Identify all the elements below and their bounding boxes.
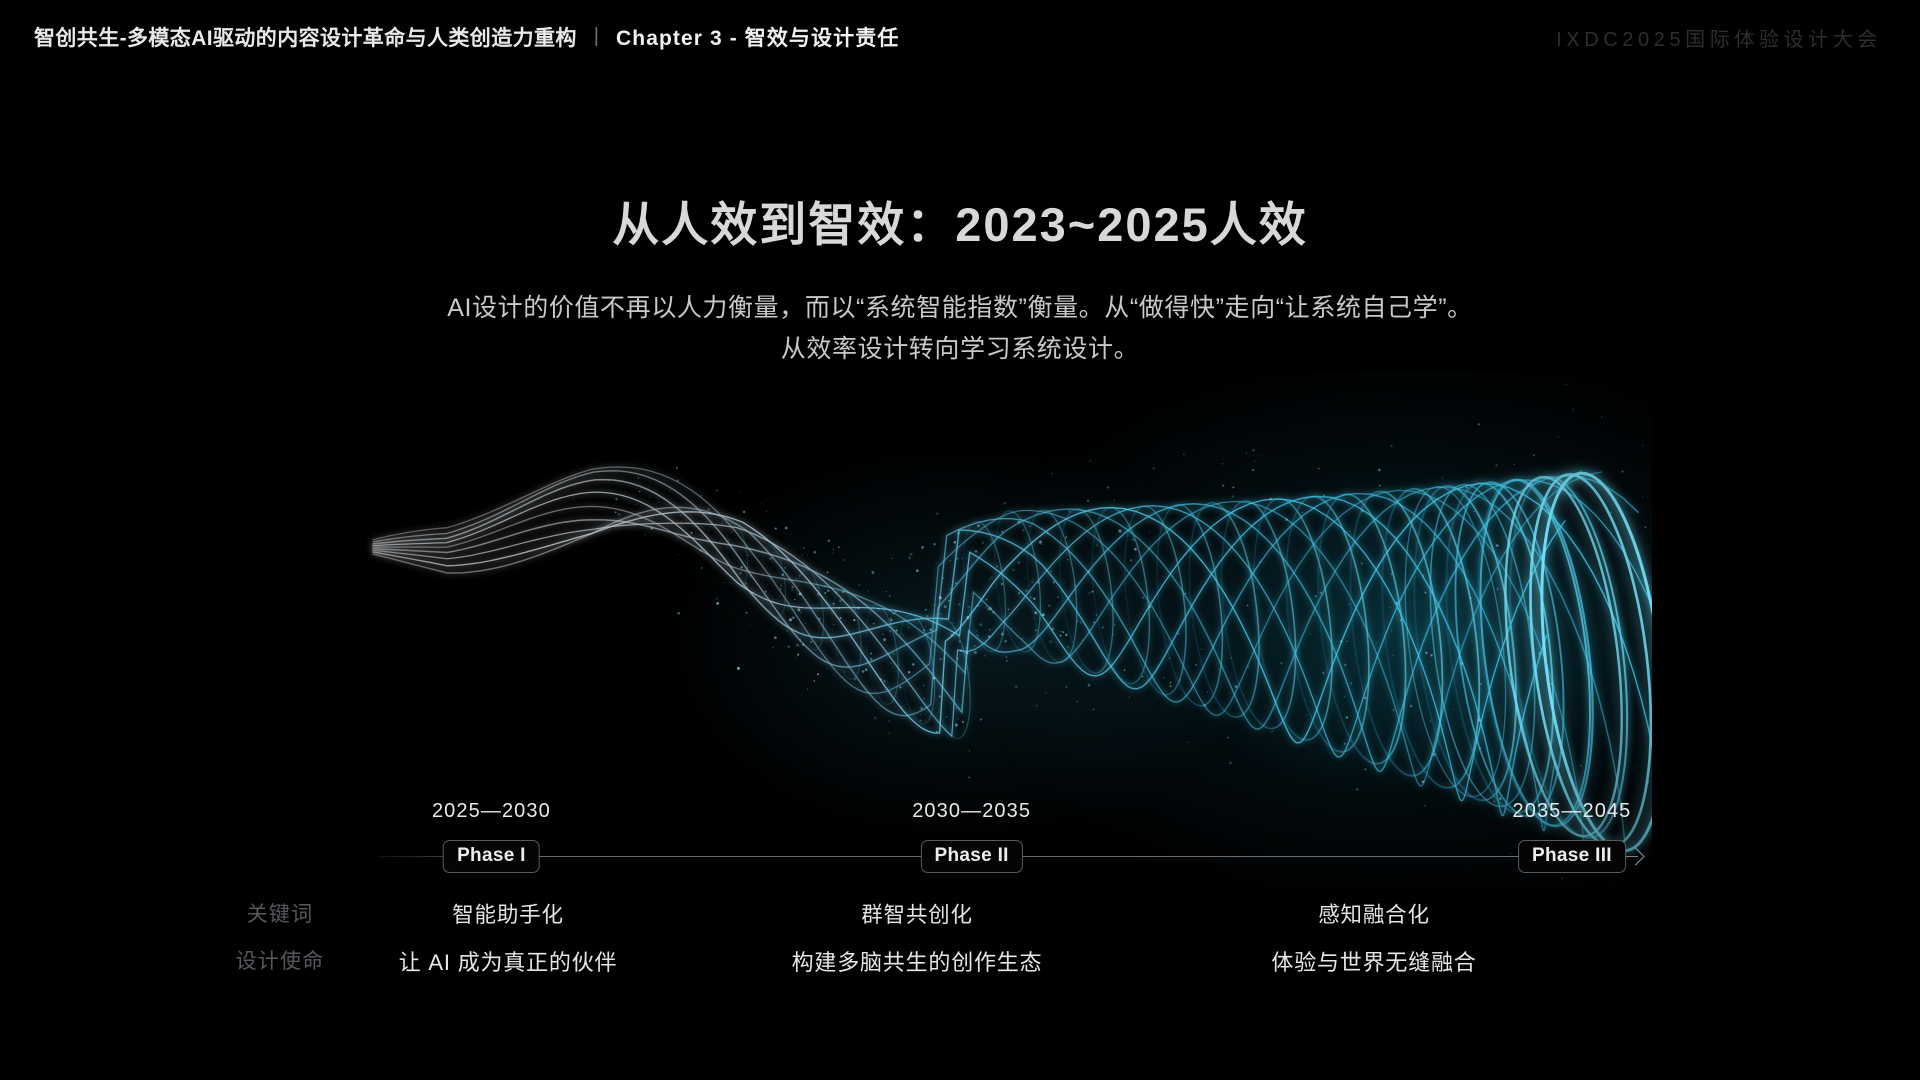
phase-chip-3[interactable]: Phase III [1518, 840, 1626, 873]
page-subtitle: AI设计的价值不再以人力衡量，而以“系统智能指数”衡量。从“做得快”走向“让系统… [0, 288, 1920, 370]
header-left-group: 智创共生-多模态AI驱动的内容设计革命与人类创造力重构 | Chapter 3 … [34, 22, 899, 52]
subtitle-line-1: AI设计的价值不再以人力衡量，而以“系统智能指数”衡量。从“做得快”走向“让系统… [447, 294, 1473, 322]
page-title: 从人效到智效：2023~2025人效 [0, 186, 1920, 255]
chapter-title: Chapter 3 - 智效与设计责任 [616, 22, 899, 52]
matrix-row-mission: 设计使命 让 AI 成为真正的伙伴 构建多脑共生的创作生态 体验与世界无缝融合 [0, 945, 1920, 992]
phase-chip-1[interactable]: Phase I [443, 840, 540, 873]
matrix-cell-mission-1: 让 AI 成为真正的伙伴 [399, 945, 618, 977]
matrix-row-label-mission: 设计使命 [215, 945, 345, 975]
matrix-cell-mission-3: 体验与世界无缝融合 [1271, 945, 1476, 977]
matrix-cell-keyword-2: 群智共创化 [861, 898, 973, 929]
matrix-row-label-keyword: 关键词 [215, 898, 345, 928]
slide-root: 智创共生-多模态AI驱动的内容设计革命与人类创造力重构 | Chapter 3 … [0, 0, 1920, 1080]
matrix-row-keyword: 关键词 智能助手化 群智共创化 感知融合化 [0, 898, 1920, 945]
phase-date-3: 2035—2045 [1513, 800, 1632, 823]
deck-title: 智创共生-多模态AI驱动的内容设计革命与人类创造力重构 [34, 22, 577, 52]
phase-date-2: 2030—2035 [912, 800, 1031, 823]
slide-header: 智创共生-多模态AI驱动的内容设计革命与人类创造力重构 | Chapter 3 … [0, 0, 1920, 78]
matrix-cell-keyword-1: 智能助手化 [452, 898, 564, 929]
phase-date-1: 2025—2030 [432, 800, 551, 823]
conference-brand: IXDC2025国际体验设计大会 [1556, 23, 1882, 52]
matrix-cell-mission-2: 构建多脑共生的创作生态 [792, 945, 1043, 977]
phase-chip-2[interactable]: Phase II [921, 840, 1023, 873]
matrix-cell-keyword-3: 感知融合化 [1318, 898, 1430, 929]
arrow-right-icon [1626, 847, 1644, 865]
header-separator: | [594, 25, 599, 48]
phase-attribute-matrix: 关键词 智能助手化 群智共创化 感知融合化 设计使命 让 AI 成为真正的伙伴 … [0, 898, 1920, 992]
phase-timeline: 2025—2030 2030—2035 2035—2045 Phase I Ph… [318, 800, 1652, 870]
subtitle-line-2: 从效率设计转向学习系统设计。 [0, 329, 1920, 370]
